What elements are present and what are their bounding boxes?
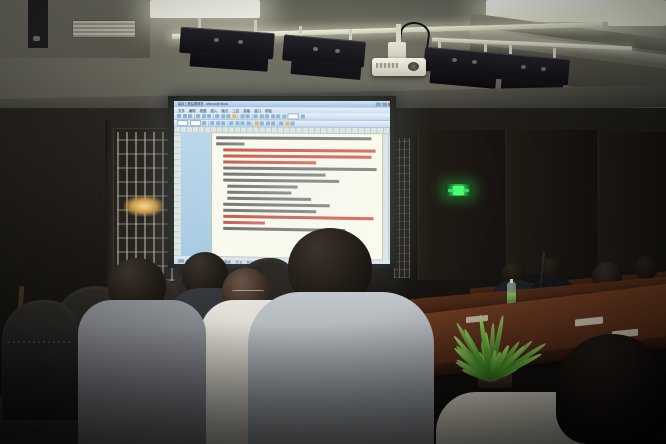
exit-sign-wing: [463, 189, 469, 192]
print-icon[interactable]: [196, 114, 200, 118]
decrease-indent-icon[interactable]: [265, 121, 269, 125]
exit-sign: [445, 184, 472, 196]
spider-plant: [438, 292, 548, 384]
vertical-ruler: [174, 132, 181, 256]
toolbar-separator: [194, 114, 195, 119]
toolbar-separator: [237, 114, 238, 119]
document-text-line: [223, 148, 375, 152]
toolbar-separator: [227, 121, 228, 126]
bulleted-list-icon[interactable]: [260, 121, 264, 125]
air-vent-icon: [72, 20, 136, 38]
columns-icon[interactable]: [265, 114, 269, 118]
document-map-icon[interactable]: [276, 114, 280, 118]
underline-icon[interactable]: [221, 121, 225, 125]
drawing-icon[interactable]: [271, 114, 275, 118]
document-text-line: [227, 191, 291, 195]
toolbar-separator: [277, 121, 278, 126]
wood-wall-panel: [418, 130, 505, 280]
toolbar-separator: [208, 121, 209, 126]
window-controls[interactable]: [376, 102, 390, 106]
document-text-line: [223, 154, 372, 158]
align-left-icon[interactable]: [229, 121, 233, 125]
word-menu-item-4[interactable]: 格式: [221, 108, 228, 113]
paste-icon[interactable]: [226, 114, 230, 118]
decorative-lattice-screen: [394, 138, 410, 278]
projector-mount-pole: [396, 24, 401, 44]
word-menu-item-3[interactable]: 插入: [210, 108, 217, 113]
numbered-list-icon[interactable]: [254, 121, 258, 125]
document-text-line: [223, 166, 377, 171]
vertical-scrollbar[interactable]: [388, 133, 390, 260]
document-text-line: [223, 209, 316, 214]
word-menu-item-6[interactable]: 表格: [243, 108, 250, 113]
font-color-icon[interactable]: [291, 122, 295, 126]
document-text-line: [223, 172, 326, 176]
document-text-line: [227, 185, 298, 189]
style-select[interactable]: [177, 120, 188, 126]
conference-room-photo: 建设工程监理规范 - Microsoft Word 文件编辑视图插入格式工具表格…: [0, 0, 666, 444]
wall-sconce-glow: [124, 196, 164, 216]
head: [634, 256, 658, 280]
word-menu-item-7[interactable]: 窗口: [254, 108, 261, 113]
spellcheck-icon[interactable]: [207, 114, 211, 118]
justify-icon[interactable]: [246, 121, 250, 125]
recessed-light-panel: [608, 0, 666, 26]
document-text-line: [216, 136, 371, 140]
wood-wall-panel: [506, 130, 597, 275]
font-size-select[interactable]: [202, 121, 206, 125]
italic-icon[interactable]: [216, 121, 220, 125]
document-text-line: [223, 221, 264, 225]
document-map-pane[interactable]: [181, 132, 212, 257]
torso: [78, 300, 206, 444]
border-icon[interactable]: [279, 121, 283, 125]
minimize-icon[interactable]: [376, 102, 381, 106]
align-right-icon[interactable]: [240, 121, 244, 125]
bold-icon[interactable]: [210, 121, 214, 125]
exit-sign-wing: [448, 189, 454, 192]
redo-icon[interactable]: [246, 114, 250, 118]
word-menu-item-8[interactable]: 帮助: [265, 108, 272, 113]
toolbar-separator: [213, 114, 214, 119]
increase-indent-icon[interactable]: [271, 121, 275, 125]
align-center-icon[interactable]: [235, 121, 239, 125]
status-item-4: 行 6: [236, 259, 242, 264]
word-menu-item-2[interactable]: 视图: [200, 108, 207, 113]
format-painter-icon[interactable]: [232, 114, 236, 118]
toolbar-separator: [252, 121, 253, 126]
head: [556, 334, 666, 444]
document-text-line: [227, 197, 310, 201]
eyeglasses-icon: [232, 290, 264, 297]
document-text-line: [223, 203, 329, 208]
save-icon[interactable]: [188, 114, 192, 118]
document-text-line: [223, 178, 339, 183]
torso: [248, 292, 434, 444]
document-text-line: [223, 160, 316, 164]
ceiling-dark-recess: [28, 0, 48, 48]
word-menu-item-5[interactable]: 工具: [232, 108, 239, 113]
show-marks-icon[interactable]: [282, 114, 286, 118]
insert-table-icon[interactable]: [254, 114, 258, 118]
new-doc-icon[interactable]: [177, 114, 181, 118]
help-icon[interactable]: [300, 114, 304, 118]
word-menu-item-1[interactable]: 编辑: [189, 108, 196, 113]
wood-wall-panel: [598, 132, 666, 272]
toolbar-separator: [251, 114, 252, 119]
projector-vent: [376, 63, 398, 68]
document-text-line: [216, 142, 245, 145]
insert-chart-icon[interactable]: [259, 114, 263, 118]
ceiling-projector: [372, 38, 426, 78]
document-text-line: [223, 215, 373, 221]
zoom-select[interactable]: [287, 113, 298, 119]
maximize-icon[interactable]: [382, 102, 387, 106]
open-icon[interactable]: [182, 114, 186, 118]
recessed-light-panel: [150, 0, 260, 18]
highlight-icon[interactable]: [285, 122, 289, 126]
word-menu-item-0[interactable]: 文件: [178, 108, 185, 113]
copy-icon[interactable]: [221, 114, 225, 118]
cut-icon[interactable]: [215, 114, 219, 118]
leather-chair: [2, 300, 78, 420]
word-title-text: 建设工程监理规范 - Microsoft Word: [178, 102, 228, 106]
font-select[interactable]: [190, 120, 201, 126]
print-preview-icon[interactable]: [202, 114, 206, 118]
projector-lens-icon: [408, 62, 419, 71]
close-icon[interactable]: [388, 102, 390, 106]
undo-icon[interactable]: [240, 114, 244, 118]
